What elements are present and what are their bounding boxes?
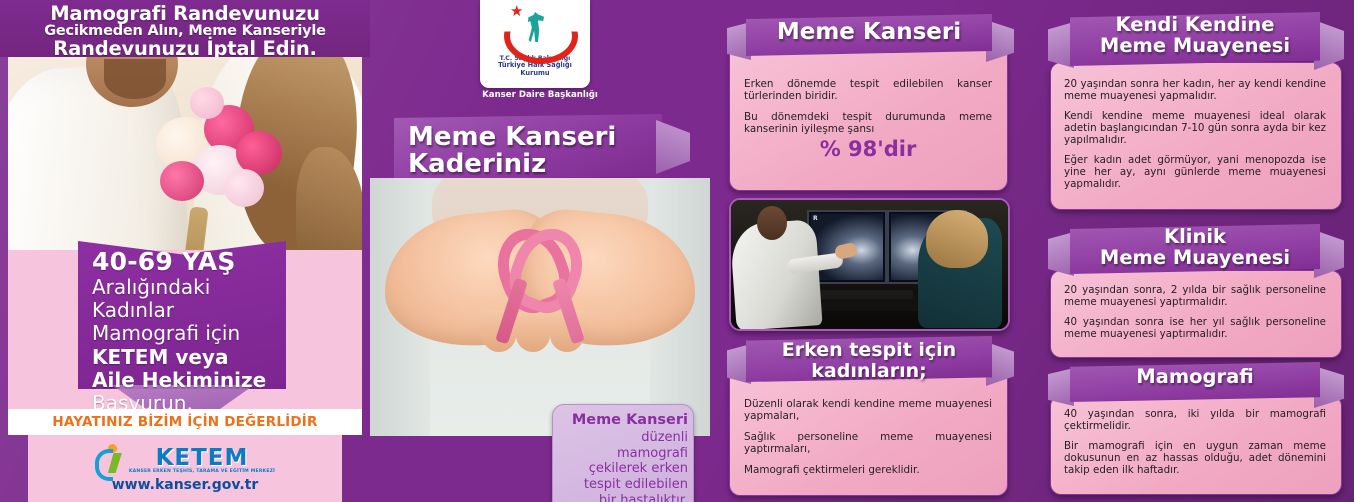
- callout-line-1: 40-69 YAŞ: [92, 247, 282, 276]
- website-url[interactable]: www.kanser.gov.tr: [112, 477, 259, 493]
- kendi-kendine-title-line-1: Kendi Kendine: [1070, 14, 1320, 35]
- age-range-callout-text: 40-69 YAŞ Aralığındaki Kadınlar Mamograf…: [92, 247, 282, 415]
- callout-line-6: Aile Hekiminize: [92, 369, 282, 392]
- card-body-erken-tespit: Düzenli olarak kendi kendine meme muayen…: [744, 398, 992, 476]
- card-title-erken-tespit: Erken tespit için kadınların;: [746, 340, 992, 381]
- card-title-meme-kanseri: Meme Kanseri: [746, 20, 992, 45]
- klinik-title-line-2: Meme Muayenesi: [1070, 247, 1320, 268]
- slogan-text: HAYATINIZ BİZİM İÇİN DEĞERLİDİR: [52, 414, 317, 430]
- ketem-logo-block: KETEM KANSER ERKEN TEŞHİS, TARAMA VE EĞİ…: [28, 435, 342, 502]
- ministry-line-3: Kurumu: [520, 70, 549, 78]
- definition-line-1: düzenli: [558, 430, 688, 446]
- xray-label-right: R: [813, 215, 818, 222]
- card-body-klinik: 20 yaşından sonra, 2 yılda bir sağlık pe…: [1064, 284, 1326, 340]
- erken-tespit-paragraph-2: Sağlık personeline meme muayenesi yaptır…: [744, 431, 992, 455]
- ketem-figure-icon: [95, 444, 125, 474]
- poster-canvas: Mamografi Randevunuzu Gecikmeden Alın, M…: [0, 0, 1354, 502]
- callout-line-5: KETEM veya: [92, 346, 282, 369]
- survival-rate-highlight: % 98'dir: [744, 137, 992, 161]
- mamografi-paragraph-1: 40 yaşından sonra, iki yılda bir mamogra…: [1064, 408, 1326, 432]
- pink-ribbon-icon: [497, 228, 583, 346]
- meme-kanseri-paragraph-2: Bu dönemdeki tespit durumunda meme kanse…: [744, 111, 992, 135]
- erken-tespit-paragraph-1: Düzenli olarak kendi kendine meme muayen…: [744, 398, 992, 422]
- mamografi-paragraph-2: Bir mamografi için en uygun zaman meme d…: [1064, 440, 1326, 476]
- klinik-paragraph-1: 20 yaşından sonra, 2 yılda bir sağlık pe…: [1064, 284, 1326, 308]
- card-title-mamografi: Mamografi: [1070, 366, 1320, 387]
- ministry-emblem-icon: [498, 4, 572, 54]
- card-body-mamografi: 40 yaşından sonra, iki yılda bir mamogra…: [1064, 408, 1326, 476]
- card-title-klinik: Klinik Meme Muayenesi: [1070, 226, 1320, 268]
- erken-tespit-paragraph-3: Mamografi çektirmeleri gereklidir.: [744, 464, 992, 476]
- erken-tespit-title-line-1: Erken tespit için: [746, 340, 992, 361]
- ministry-of-health-logo: T.C. Sağlık Bakanlığı Türkiye Halk Sağlı…: [480, 0, 590, 88]
- ketem-wordmark: KETEM: [156, 445, 249, 471]
- ketem-subtitle: KANSER ERKEN TEŞHİS, TARAMA VE EĞİTİM ME…: [129, 469, 275, 474]
- meme-kanseri-paragraph-1: Erken dönemde tespit edilebilen kanser t…: [744, 78, 992, 102]
- card-title-kendi-kendine: Kendi Kendine Meme Muayenesi: [1070, 14, 1320, 56]
- card-body-kendi-kendine: 20 yaşından sonra her kadın, her ay kend…: [1064, 78, 1326, 190]
- center-definition-text: Meme Kanseri düzenli mamografi çekilerek…: [558, 412, 688, 502]
- card-body-meme-kanseri: Erken dönemde tespit edilebilen kanser t…: [744, 78, 992, 161]
- pink-ribbon-hands-photo: [370, 178, 710, 436]
- callout-line-4: Mamografi için: [92, 322, 282, 345]
- callout-line-3: Kadınlar: [92, 299, 282, 322]
- center-banner-flap-right: [656, 120, 690, 174]
- definition-line-2: mamografi: [558, 446, 688, 462]
- definition-line-4: tespit edilebilen: [558, 477, 688, 493]
- headline-line-1: Mamografi Randevunuzu: [0, 0, 370, 24]
- center-banner-line-1: Meme Kanseri: [408, 124, 658, 151]
- ministry-caption: Kanser Daire Başkanlığı: [370, 90, 710, 100]
- kendi-kendine-title-line-2: Meme Muayenesi: [1070, 35, 1320, 56]
- definition-line-5: bir hastalıktır.: [558, 493, 688, 502]
- klinik-paragraph-2: 40 yaşından sonra ise her yıl sağlık per…: [1064, 316, 1326, 340]
- definition-title: Meme Kanseri: [558, 412, 688, 430]
- kendi-kendine-paragraph-1: 20 yaşından sonra her kadın, her ay kend…: [1064, 78, 1326, 102]
- center-panel: T.C. Sağlık Bakanlığı Türkiye Halk Sağlı…: [370, 0, 710, 502]
- mammogram-consultation-photo: R L: [729, 198, 1010, 331]
- left-panel: Mamografi Randevunuzu Gecikmeden Alın, M…: [0, 0, 370, 502]
- kendi-kendine-paragraph-2: Kendi kendine meme muayenesi ideal olara…: [1064, 110, 1326, 146]
- kendi-kendine-paragraph-3: Eğer kadın adet görmüyor, yani menopozda…: [1064, 154, 1326, 190]
- definition-line-3: çekilerek erken: [558, 461, 688, 477]
- callout-line-2: Aralığındaki: [92, 276, 282, 299]
- left-headline: Mamografi Randevunuzu Gecikmeden Alın, M…: [0, 0, 370, 57]
- erken-tespit-title-line-2: kadınların;: [746, 361, 992, 382]
- klinik-title-line-1: Klinik: [1070, 226, 1320, 247]
- slogan-bar: HAYATINIZ BİZİM İÇİN DEĞERLİDİR: [8, 409, 362, 435]
